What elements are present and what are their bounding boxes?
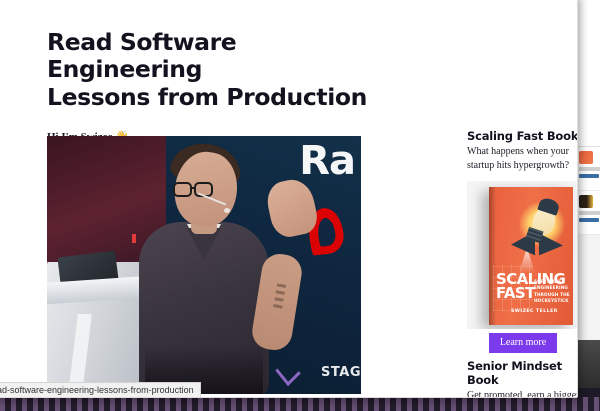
sidebar-promo-senior-mindset: Senior Mindset Book Get promoted, earn a…: [467, 359, 577, 397]
book-author-text: SWIZEC TELLER: [511, 309, 558, 314]
book-cover: SCALING FAST SOFTWARE ENGINEERING THROUG…: [489, 187, 573, 325]
background-window-header: [577, 0, 600, 146]
webpage-content: Read Software Engineering Lessons from P…: [0, 0, 577, 397]
sidebar-promo-scaling-fast: Scaling Fast Book What happens when your…: [467, 129, 577, 353]
book-subtitle-text: SOFTWARE ENGINEERING THROUGH THE HOCKEYS…: [534, 279, 570, 303]
text-placeholder-line: [579, 167, 600, 171]
article-column: Read Software Engineering Lessons from P…: [47, 29, 377, 143]
scaling-fast-title: Scaling Fast Book: [467, 129, 577, 143]
background-list-item[interactable]: [577, 191, 600, 235]
senior-mindset-title: Senior Mindset Book: [467, 359, 577, 387]
sidebar: Scaling Fast Book What happens when your…: [467, 129, 577, 397]
background-list-item[interactable]: [577, 147, 600, 191]
backdrop-brand-text: Ra: [299, 138, 355, 184]
browser-window[interactable]: Read Software Engineering Lessons from P…: [0, 0, 578, 398]
scaling-fast-cover-image[interactable]: SCALING FAST SOFTWARE ENGINEERING THROUG…: [467, 181, 577, 329]
scaling-fast-description: What happens when your startup hits hype…: [467, 145, 577, 173]
background-code-editor-strip: [0, 397, 600, 411]
background-window-footer: [577, 340, 600, 388]
learn-more-button[interactable]: Learn more: [489, 333, 557, 353]
stage-logo-text: STAG: [321, 365, 361, 380]
glasses-bridge-icon: [192, 187, 196, 189]
microphone-tip-icon: [224, 208, 230, 213]
glasses-left-lens-icon: [173, 182, 192, 197]
url-status-bar: ad-software-engineering-lessons-from-pro…: [0, 382, 201, 397]
text-placeholder-line: [579, 211, 600, 215]
background-window[interactable]: [576, 0, 600, 388]
hero-speaker-photo: Ra STAG: [47, 136, 361, 394]
link-placeholder-line: [579, 174, 599, 178]
thumbnail-icon: [579, 195, 593, 208]
page-title: Read Software Engineering Lessons from P…: [47, 29, 377, 111]
thumbnail-icon: [579, 151, 593, 164]
senior-mindset-description: Get promoted, earn a bigger salary, work…: [467, 389, 577, 397]
stage-led-light: [132, 234, 136, 243]
link-placeholder-line: [579, 218, 599, 222]
